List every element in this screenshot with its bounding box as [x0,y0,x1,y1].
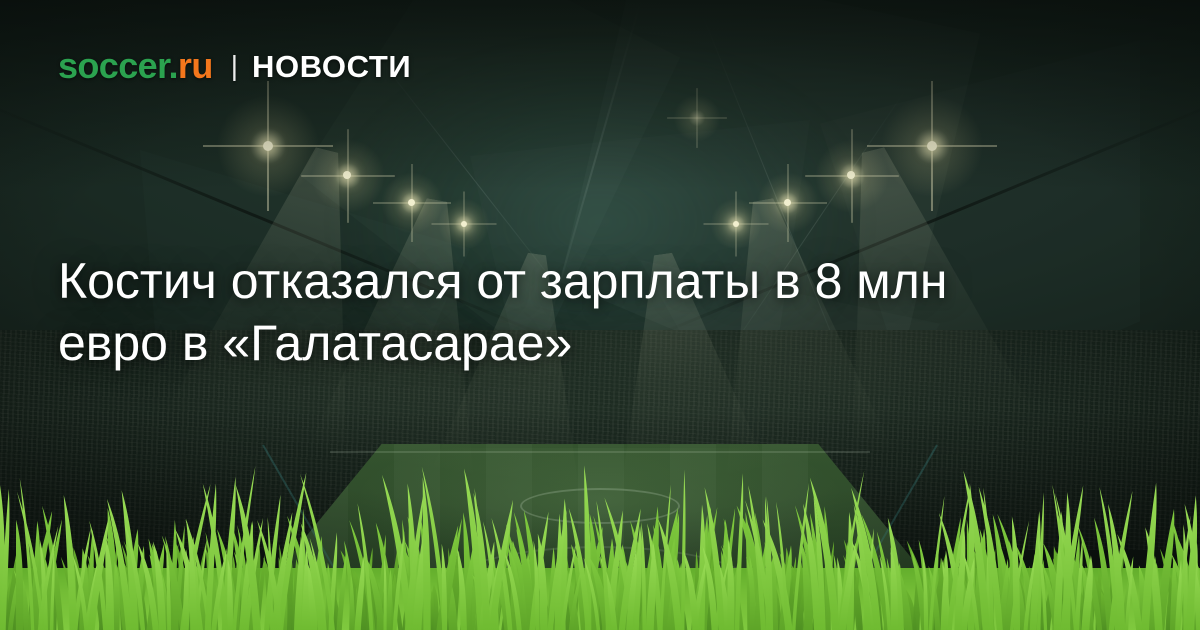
news-cover-card: soccer.ru | НОВОСТИ Костич отказался от … [0,0,1200,630]
section-label-news[interactable]: НОВОСТИ [252,51,411,82]
site-logo[interactable]: soccer.ru [58,48,213,84]
grass-foreground [0,440,1200,630]
article-headline: Костич отказался от зарплаты в 8 млн евр… [58,250,1048,374]
logo-text-soccer: soccer [58,45,169,86]
logo-dot: . [169,45,178,86]
site-header: soccer.ru | НОВОСТИ [58,48,411,84]
grass-blades [0,440,1200,630]
logo-text-ru: ru [178,45,213,86]
header-separator: | [231,52,238,80]
